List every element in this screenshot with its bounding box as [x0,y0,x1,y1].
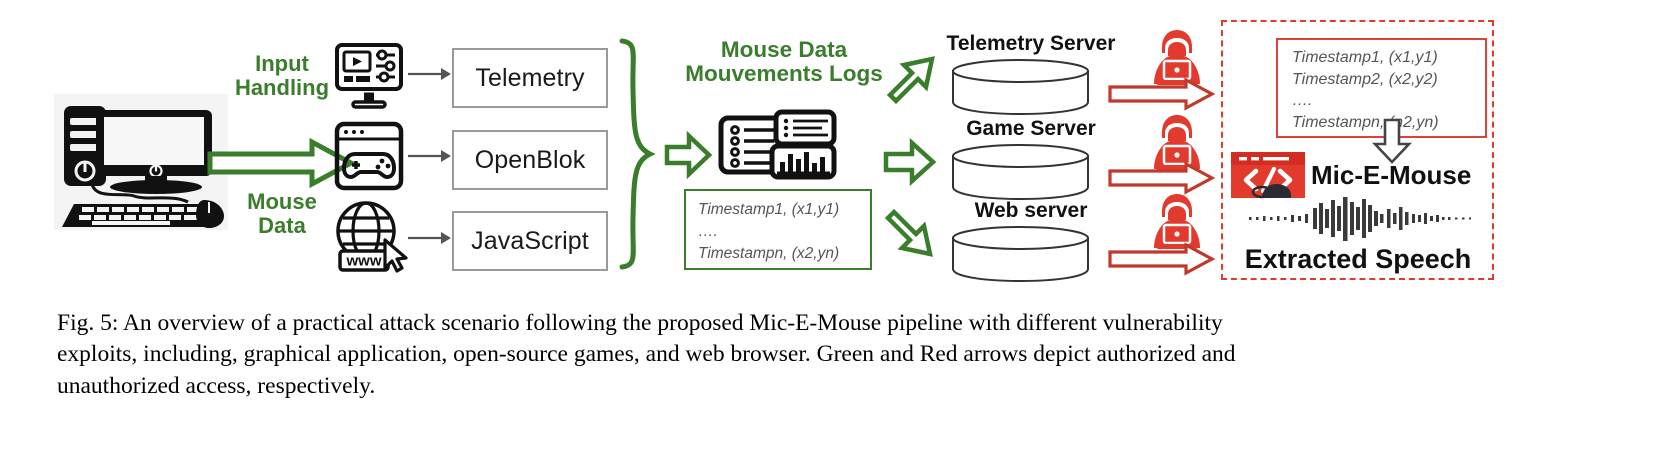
caption-line-1: Fig. 5: An overview of a practical attac… [57,308,1602,339]
database-cylinder-telemetry [950,58,1092,116]
audio-waveform-icon [1243,196,1481,242]
red-block-arrow-game [1108,162,1214,194]
svg-text:www: www [345,253,381,270]
logs-title-line2: Mouvements Logs [676,62,892,86]
attacker-log-line-ellipsis: …. [1292,90,1475,112]
server-label-game: Game Server [941,117,1121,141]
app-box-openblok[interactable]: OpenBlok [452,130,608,190]
outline-block-arrow-down [1372,118,1412,164]
green-block-arrow-up-right [886,55,938,107]
mic-e-mouse-title: Mic-E-Mouse [1311,160,1491,191]
log-line-1: Timestamp1, (x1,y1) [698,199,860,221]
figure-canvas: Input Handling Mouse Data [0,0,1654,300]
database-cylinder-web [950,225,1092,283]
app-label-telemetry: Telemetry [475,64,584,93]
extracted-speech-title: Extracted Speech [1233,244,1483,275]
server-label-telemetry: Telemetry Server [941,32,1121,56]
data-list-chart-icon [718,110,836,180]
green-block-arrow-to-logs [665,133,711,177]
server-label-web: Web server [941,199,1121,223]
attacker-log-line-2: Timestamp2, (x2,y2) [1292,69,1475,91]
app-label-openblok: OpenBlok [475,146,586,175]
game-controller-window-icon [333,120,405,192]
mouse-data-logs-title: Mouse Data Mouvements Logs [676,38,892,87]
red-block-arrow-telemetry [1108,78,1214,110]
green-block-arrow-down-right [884,208,938,262]
curly-brace-right [616,38,658,270]
desktop-computer-icon [52,92,230,232]
database-cylinder-game [950,143,1092,201]
log-line-n: Timestampn, (x2,yn) [698,243,860,265]
mouse-log-box-green: Timestamp1, (x1,y1) …. Timestampn, (x2,y… [684,189,872,270]
connector-arrow-openblok [408,146,452,166]
mic-e-mouse-logo-icon [1229,150,1307,200]
media-player-settings-icon [333,40,405,112]
figure-caption: Fig. 5: An overview of a practical attac… [57,308,1602,402]
connector-arrow-javascript [408,228,452,248]
log-line-ellipsis: …. [698,221,860,243]
caption-line-2: exploits, including, graphical applicati… [57,339,1602,370]
connector-arrow-telemetry [408,64,452,84]
logs-title-line1: Mouse Data [676,38,892,62]
app-box-javascript[interactable]: JavaScript [452,211,608,271]
red-block-arrow-web [1108,243,1214,275]
app-box-telemetry[interactable]: Telemetry [452,48,608,108]
green-block-arrow-right-game [884,140,936,184]
app-label-javascript: JavaScript [471,227,589,256]
globe-www-cursor-icon: www [330,198,408,274]
caption-line-3: unauthorized access, respectively. [57,371,1602,402]
attacker-log-line-1: Timestamp1, (x1,y1) [1292,47,1475,69]
